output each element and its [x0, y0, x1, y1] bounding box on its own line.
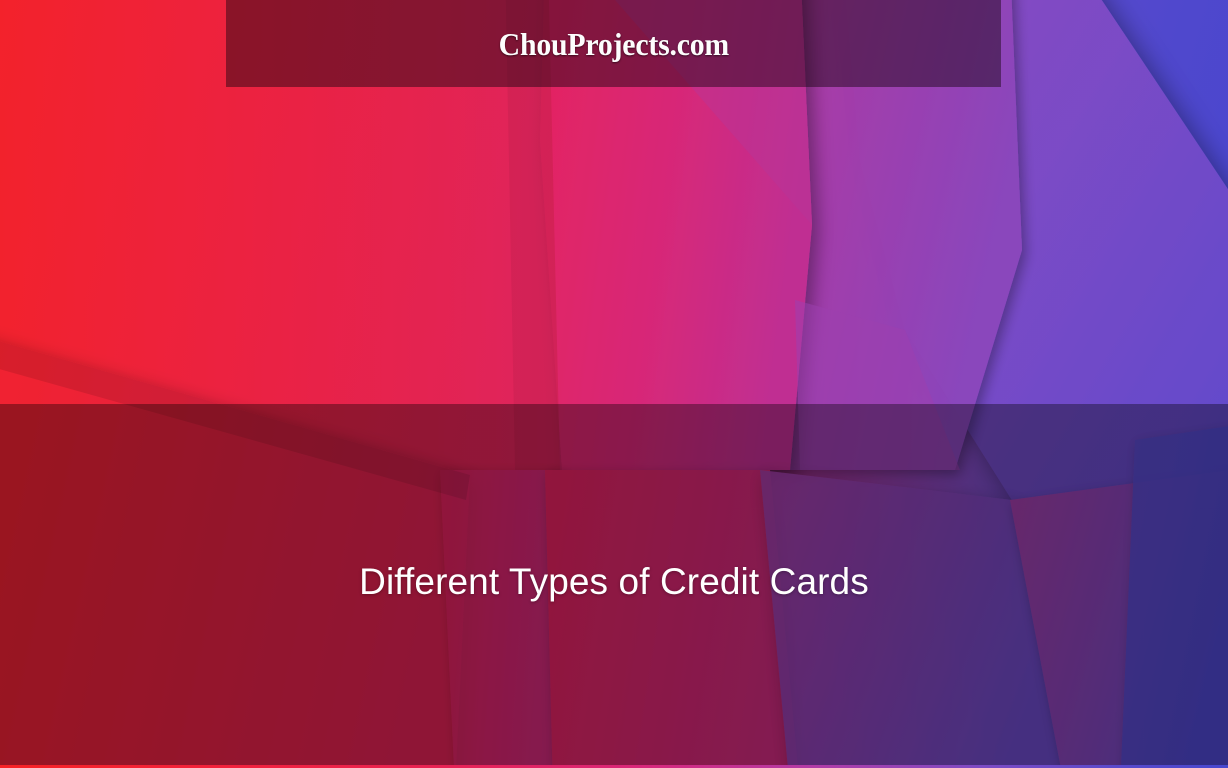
abstract-polygon-background	[0, 0, 1228, 768]
title-container: Different Types of Credit Cards	[0, 560, 1228, 604]
page-title: Different Types of Credit Cards	[359, 560, 869, 604]
watermark-site-name: ChouProjects.com	[498, 28, 728, 60]
hero-banner: ChouProjects.com Different Types of Cred…	[0, 0, 1228, 768]
watermark-band: ChouProjects.com	[226, 0, 1001, 87]
